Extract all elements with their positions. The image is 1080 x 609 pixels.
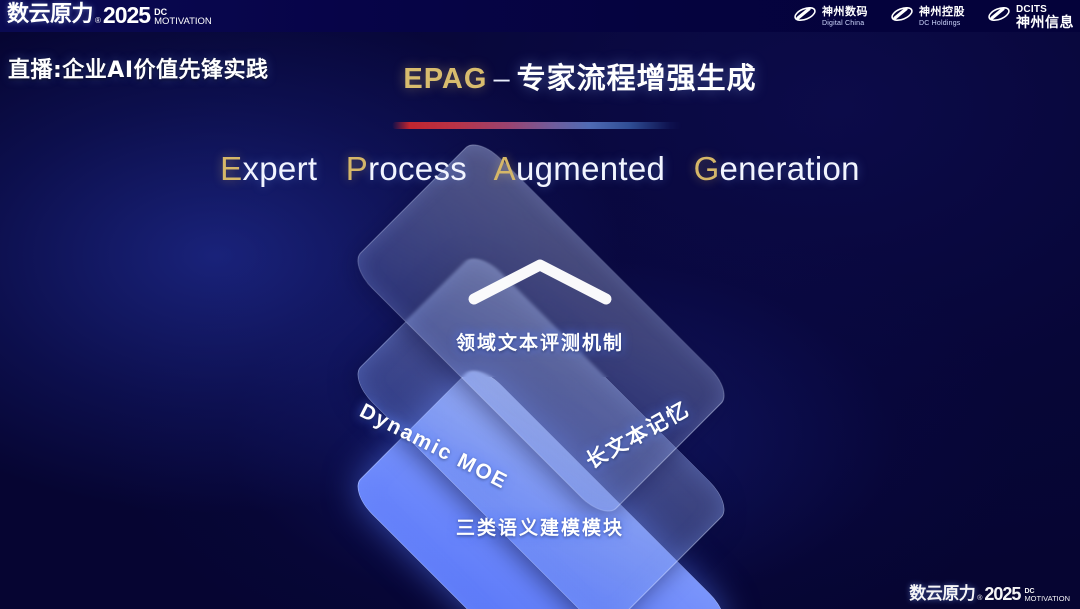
watermark-cn: 数云原力 bbox=[909, 584, 975, 604]
subtitle-word-generation: Generation bbox=[694, 150, 860, 187]
footer-watermark: 数云原力 ® 2025 DC MOTIVATION bbox=[909, 584, 1070, 604]
brand-name-cn: 神州数码 bbox=[822, 7, 868, 18]
title-dash: – bbox=[487, 63, 516, 95]
watermark-dc-motivation: DC MOTIVATION bbox=[1024, 588, 1070, 603]
watermark-year: 2025 bbox=[984, 584, 1020, 604]
swoosh-icon bbox=[987, 5, 1011, 28]
brand-name-cn: 神州控股 bbox=[919, 7, 965, 18]
subtitle-space bbox=[675, 150, 684, 187]
gradient-divider bbox=[392, 122, 682, 129]
event-logo-motivation: MOTIVATION bbox=[154, 17, 212, 27]
watermark-motivation: MOTIVATION bbox=[1024, 595, 1070, 603]
subtitle-rest: rocess bbox=[368, 150, 467, 187]
event-logo-dc-motivation: DC MOTIVATION bbox=[154, 8, 212, 27]
subtitle-rest: xpert bbox=[242, 150, 317, 187]
title-acronym: EPAG bbox=[403, 63, 487, 95]
subtitle-word-augmented: Augmented bbox=[494, 150, 666, 187]
brand-text: DCITS 神州信息 bbox=[1016, 4, 1074, 29]
title-chinese: 专家流程增强生成 bbox=[517, 61, 757, 95]
brand-dc-holdings: 神州控股 DC Holdings bbox=[890, 5, 965, 28]
watermark-registered: ® bbox=[977, 593, 982, 604]
subtitle-rest: ugmented bbox=[516, 150, 665, 187]
subtitle-initial: P bbox=[346, 150, 368, 187]
brand-text: 神州数码 Digital China bbox=[822, 7, 868, 27]
subtitle-rest: eneration bbox=[720, 150, 860, 187]
sponsor-logos: 神州数码 Digital China 神州控股 DC Holdings bbox=[793, 4, 1074, 29]
subtitle: Expert Process Augmented Generation bbox=[0, 150, 1080, 188]
brand-name-cn: 神州信息 bbox=[1016, 15, 1074, 29]
event-logo-cn: 数云原力 bbox=[7, 2, 93, 28]
subtitle-initial: G bbox=[694, 150, 720, 187]
swoosh-icon bbox=[793, 5, 817, 28]
page-title: EPAG–专家流程增强生成 bbox=[0, 55, 1080, 97]
brand-name-en: Digital China bbox=[822, 20, 868, 27]
subtitle-initial: E bbox=[220, 150, 242, 187]
brand-digital-china: 神州数码 Digital China bbox=[793, 5, 868, 28]
brand-name-en: DC Holdings bbox=[919, 20, 965, 27]
subtitle-space bbox=[477, 150, 486, 187]
event-logo: 数云原力 ® 2025 DC MOTIVATION bbox=[7, 2, 212, 28]
header-bar: 数云原力 ® 2025 DC MOTIVATION 神州数码 Digital C… bbox=[0, 0, 1080, 32]
brand-text: 神州控股 DC Holdings bbox=[919, 7, 965, 27]
subtitle-space bbox=[327, 150, 336, 187]
subtitle-word-expert: Expert bbox=[220, 150, 317, 187]
slide-canvas: 数云原力 ® 2025 DC MOTIVATION 神州数码 Digital C… bbox=[0, 0, 1080, 609]
subtitle-initial: A bbox=[494, 150, 516, 187]
brand-dcits: DCITS 神州信息 bbox=[987, 4, 1074, 29]
layer-stack-diagram: 领域文本评测机制 Dynamic MOE 长文本记忆 三类语义建模模块 bbox=[265, 215, 815, 595]
event-logo-year: 2025 bbox=[103, 2, 150, 28]
swoosh-icon bbox=[890, 5, 914, 28]
event-logo-registered: ® bbox=[95, 14, 101, 28]
subtitle-word-process: Process bbox=[346, 150, 467, 187]
